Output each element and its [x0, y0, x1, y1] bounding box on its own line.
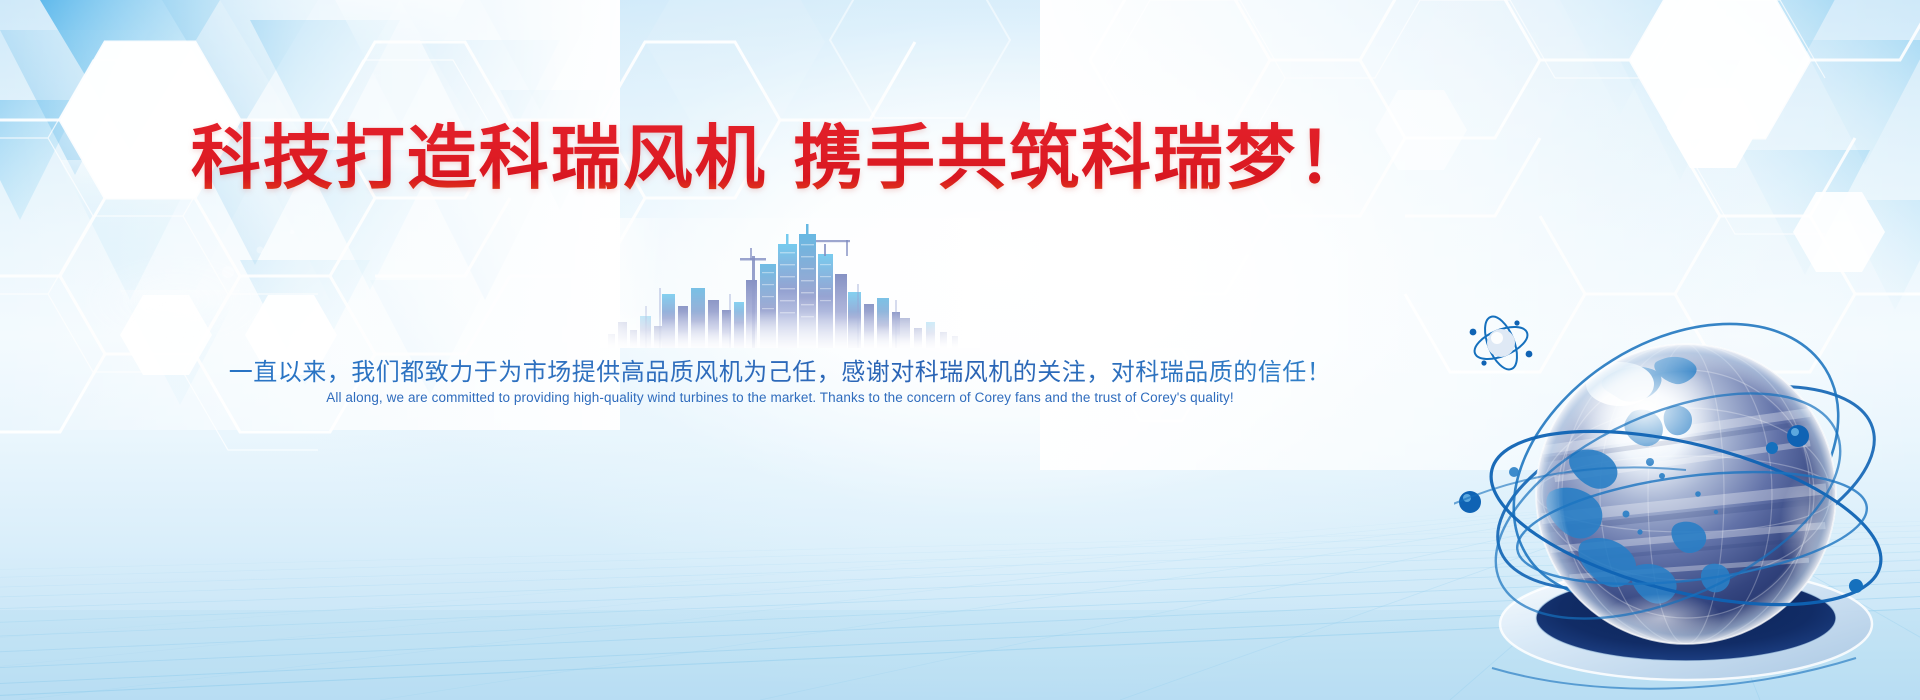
promo-banner: 科技打造科瑞风机 携手共筑科瑞梦！ 一直以来，我们都致力于为市场提供高品质风机为… [0, 0, 1920, 700]
banner-subtitle-chinese: 一直以来，我们都致力于为市场提供高品质风机为己任，感谢对科瑞风机的关注，对科瑞品… [0, 352, 1560, 387]
banner-text-content: 科技打造科瑞风机 携手共筑科瑞梦！ 一直以来，我们都致力于为市场提供高品质风机为… [0, 0, 1560, 700]
globe-sphere [1536, 344, 1836, 644]
banner-headline: 科技打造科瑞风机 携手共筑科瑞梦！ [0, 118, 1560, 199]
globe-continents [1546, 357, 1730, 604]
banner-subtitle-english: All along, we are committed to providing… [0, 390, 1560, 405]
